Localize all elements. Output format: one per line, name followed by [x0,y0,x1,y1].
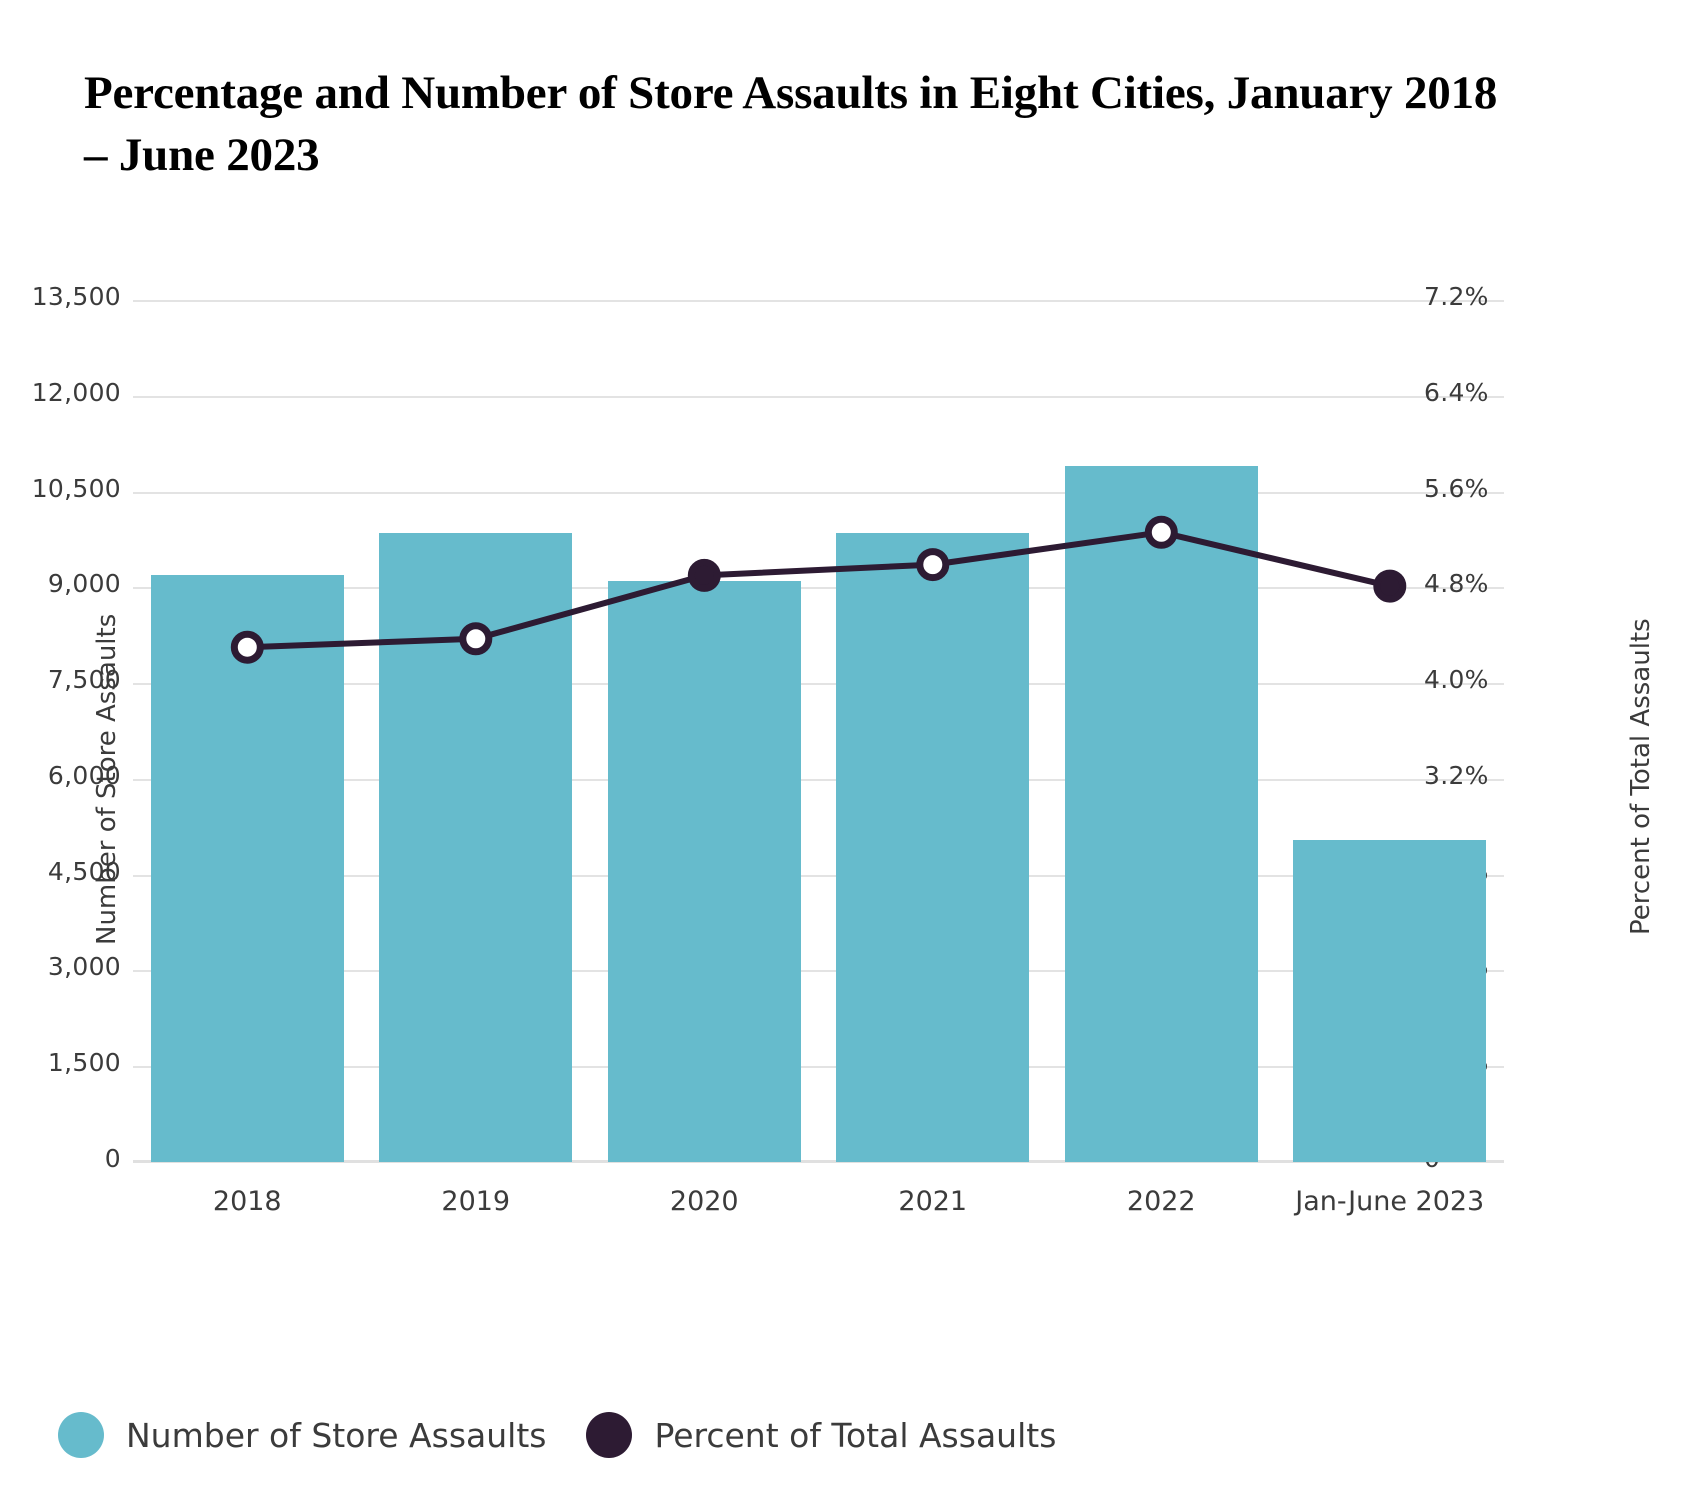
line-marker[interactable] [1148,519,1174,545]
x-axis-ticks: 20182019202020212022Jan-June 2023 [133,1186,1504,1236]
x-axis-tick-label: 2021 [819,1186,1048,1217]
chart-legend: Number of Store AssaultsPercent of Total… [58,1412,1056,1458]
x-axis-tick-label: 2018 [133,1186,362,1217]
y-axis-left-tick-label: 10,500 [32,474,121,503]
y-axis-left-tick-label: 12,000 [32,378,121,407]
legend-swatch-icon [586,1412,632,1458]
line-marker[interactable] [463,626,489,652]
y-axis-left-tick-label: 13,500 [32,282,121,311]
line-path [247,532,1390,647]
line-marker[interactable] [920,552,946,578]
legend-label: Percent of Total Assaults [654,1416,1056,1455]
legend-label: Number of Store Assaults [126,1416,546,1455]
y-axis-left-title: Number of Store Assaults [92,614,122,945]
x-axis-tick-label: Jan-June 2023 [1276,1186,1505,1217]
chart-page: Percentage and Number of Store Assaults … [0,0,1704,1496]
legend-item[interactable]: Percent of Total Assaults [586,1412,1056,1458]
line-marker[interactable] [1377,573,1403,599]
y-axis-right-title: Percent of Total Assaults [1626,618,1656,935]
line-series [133,300,1504,1162]
line-marker[interactable] [691,562,717,588]
x-axis-tick-label: 2022 [1047,1186,1276,1217]
y-axis-left-tick-label: 3,000 [48,952,121,981]
x-axis-tick-label: 2019 [362,1186,591,1217]
page-title: Percentage and Number of Store Assaults … [84,62,1504,186]
legend-item[interactable]: Number of Store Assaults [58,1412,546,1458]
x-axis-tick-label: 2020 [590,1186,819,1217]
y-axis-left-tick-label: 0 [105,1144,121,1173]
y-axis-left-tick-label: 1,500 [48,1048,121,1077]
legend-swatch-icon [58,1412,104,1458]
y-axis-left-tick-label: 9,000 [48,569,121,598]
line-marker[interactable] [234,634,260,660]
